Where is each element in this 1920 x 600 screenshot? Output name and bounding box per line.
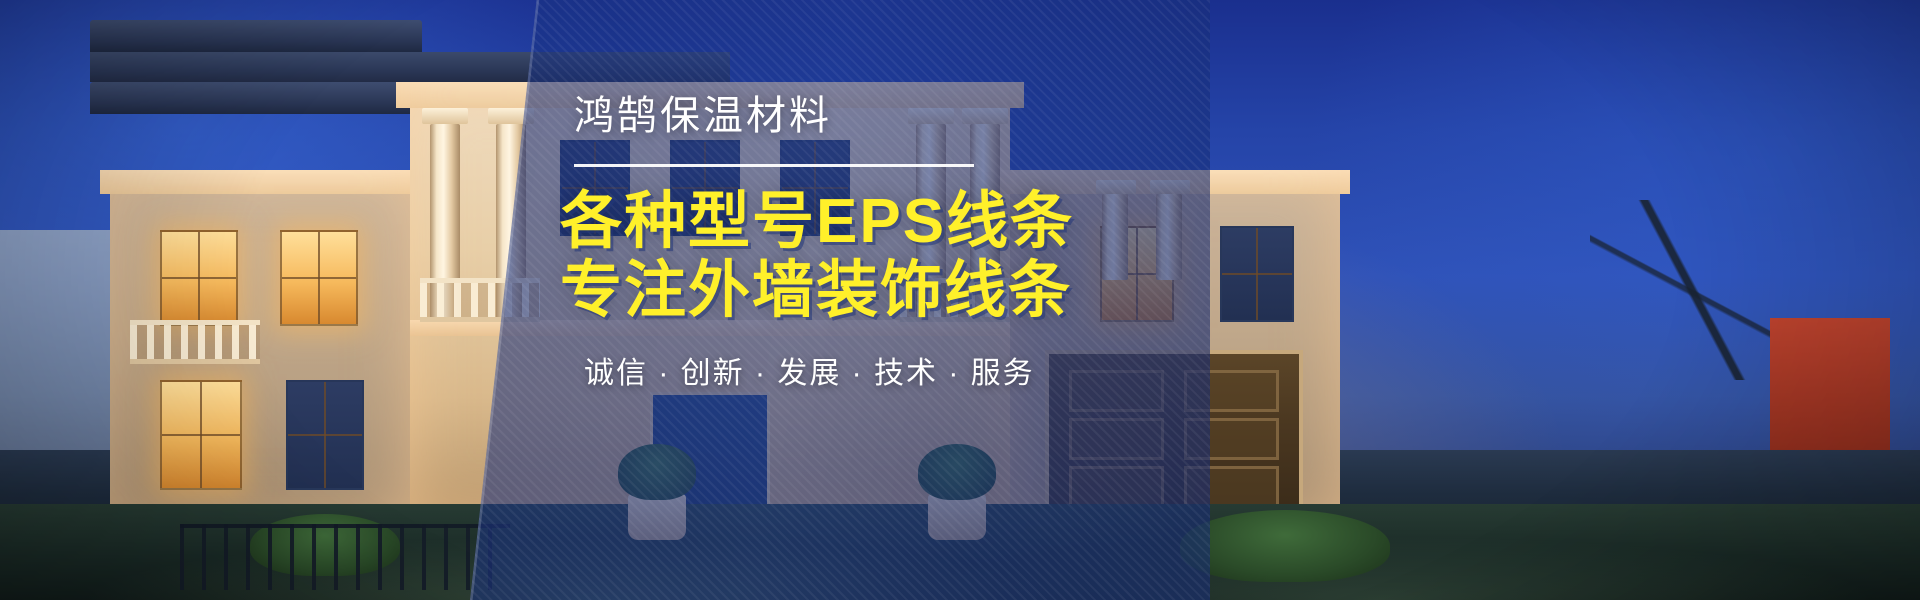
garden-fence — [180, 524, 510, 590]
balustrade — [130, 320, 260, 364]
hero-banner: 鸿鹄保温材料 各种型号EPS线条 专注外墙装饰线条 诚信 · 创新 · 发展 ·… — [0, 0, 1920, 600]
column-capital — [422, 108, 468, 124]
headline-line-1: 各种型号EPS线条 — [560, 189, 1240, 256]
left-wing-roof — [90, 20, 422, 52]
banner-copy: 鸿鹄保温材料 各种型号EPS线条 专注外墙装饰线条 诚信 · 创新 · 发展 ·… — [560, 96, 1240, 389]
window — [280, 230, 358, 326]
headline-line-2: 专注外墙装饰线条 — [560, 258, 1240, 325]
tagline: 诚信 · 创新 · 发展 · 技术 · 服务 — [584, 359, 1240, 389]
window — [286, 380, 364, 490]
window — [160, 230, 238, 326]
title-divider — [574, 164, 974, 167]
shrub — [1180, 510, 1390, 582]
window — [160, 380, 242, 490]
tree-branch — [1590, 200, 1800, 380]
left-wing-cornice — [100, 170, 420, 194]
brand-name: 鸿鹄保温材料 — [574, 96, 1240, 136]
